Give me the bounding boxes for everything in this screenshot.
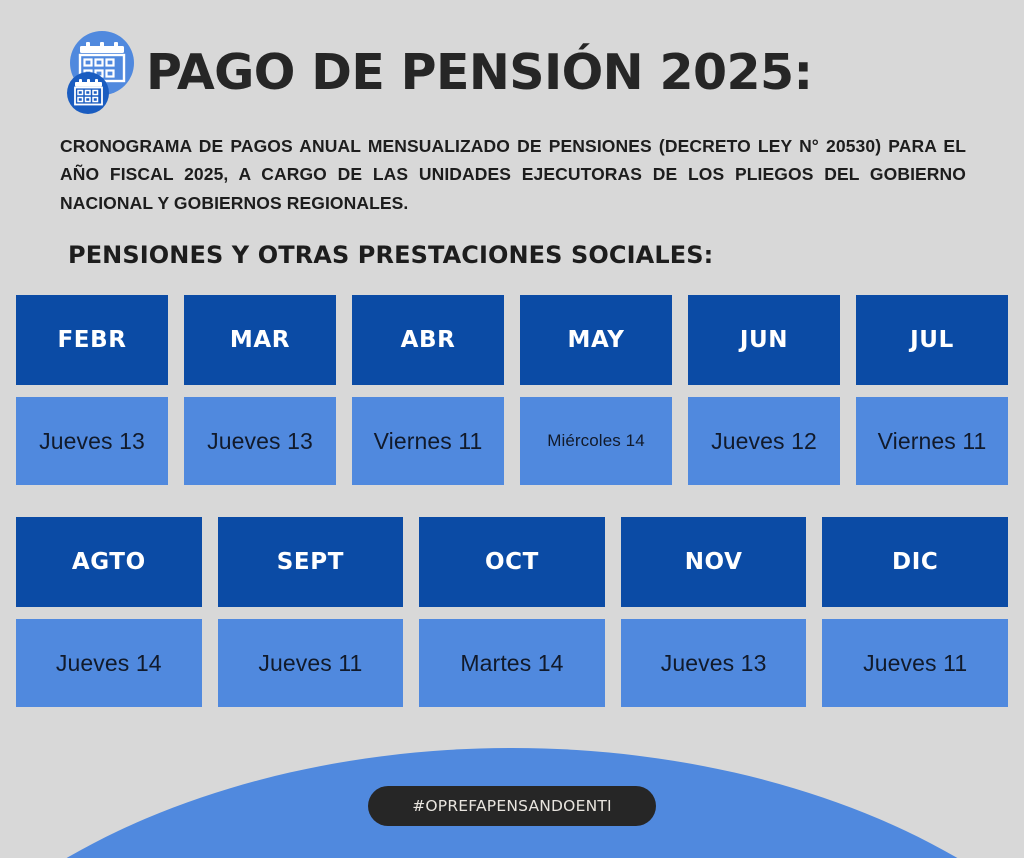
schedule-block-second-half: AGTO SEPT OCT NOV DIC Jueves 14 Jueves 1… <box>16 517 1008 707</box>
poster-header: PAGO DE PENSIÓN 2025: <box>0 0 1024 118</box>
section-subheading: PENSIONES Y OTRAS PRESTACIONES SOCIALES: <box>68 241 1024 269</box>
month-cell[interactable]: NOV <box>621 517 807 607</box>
poster-footer: #OPREFAPENSANDOENTI <box>0 786 1024 826</box>
schedule-block-first-half: FEBR MAR ABR MAY JUN JUL Jueves 13 Jueve… <box>16 295 1008 485</box>
month-header-row-2: AGTO SEPT OCT NOV DIC <box>16 517 1008 607</box>
date-cell[interactable]: Viernes 11 <box>856 397 1008 485</box>
date-cell[interactable]: Jueves 13 <box>621 619 807 707</box>
month-cell[interactable]: MAY <box>520 295 672 385</box>
date-row-2: Jueves 14 Jueves 11 Martes 14 Jueves 13 … <box>16 619 1008 707</box>
date-cell[interactable]: Jueves 11 <box>218 619 404 707</box>
month-cell[interactable]: AGTO <box>16 517 202 607</box>
page-title: PAGO DE PENSIÓN 2025: <box>146 48 813 97</box>
hashtag-badge[interactable]: #OPREFAPENSANDOENTI <box>368 786 656 826</box>
month-cell[interactable]: SEPT <box>218 517 404 607</box>
month-cell[interactable]: JUL <box>856 295 1008 385</box>
date-cell[interactable]: Jueves 12 <box>688 397 840 485</box>
month-cell[interactable]: FEBR <box>16 295 168 385</box>
date-cell[interactable]: Martes 14 <box>419 619 605 707</box>
date-cell[interactable]: Viernes 11 <box>352 397 504 485</box>
poster-page: PAGO DE PENSIÓN 2025: CRONOGRAMA DE PAGO… <box>0 0 1024 858</box>
month-cell[interactable]: ABR <box>352 295 504 385</box>
month-header-row-1: FEBR MAR ABR MAY JUN JUL <box>16 295 1008 385</box>
calendar-icon <box>58 29 140 115</box>
intro-paragraph: CRONOGRAMA DE PAGOS ANUAL MENSUALIZADO D… <box>60 132 966 217</box>
month-cell[interactable]: JUN <box>688 295 840 385</box>
date-row-1: Jueves 13 Jueves 13 Viernes 11 Miércoles… <box>16 397 1008 485</box>
date-cell[interactable]: Miércoles 14 <box>520 397 672 485</box>
date-cell[interactable]: Jueves 13 <box>16 397 168 485</box>
date-cell[interactable]: Jueves 13 <box>184 397 336 485</box>
date-cell[interactable]: Jueves 11 <box>822 619 1008 707</box>
month-cell[interactable]: DIC <box>822 517 1008 607</box>
month-cell[interactable]: OCT <box>419 517 605 607</box>
date-cell[interactable]: Jueves 14 <box>16 619 202 707</box>
month-cell[interactable]: MAR <box>184 295 336 385</box>
